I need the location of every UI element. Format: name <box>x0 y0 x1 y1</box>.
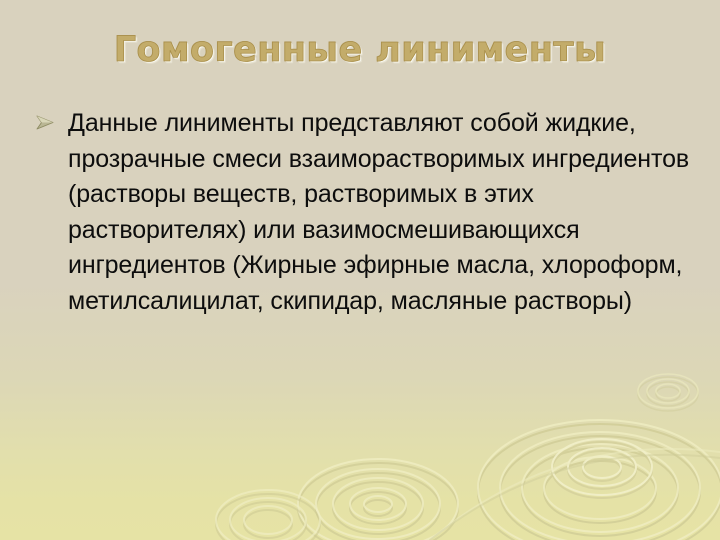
slide-body-container: Данные линименты представляют собой жидк… <box>34 106 694 319</box>
bullet-paragraph: Данные линименты представляют собой жидк… <box>34 106 694 319</box>
arrowhead-right-icon <box>34 112 56 134</box>
presentation-slide: Гомогенные линименты Данные линименты пр… <box>0 0 720 540</box>
slide-title: Гомогенные линименты <box>114 30 606 70</box>
slide-title-container: Гомогенные линименты <box>0 30 720 70</box>
bullet-paragraph-text: Данные линименты представляют собой жидк… <box>68 106 694 319</box>
